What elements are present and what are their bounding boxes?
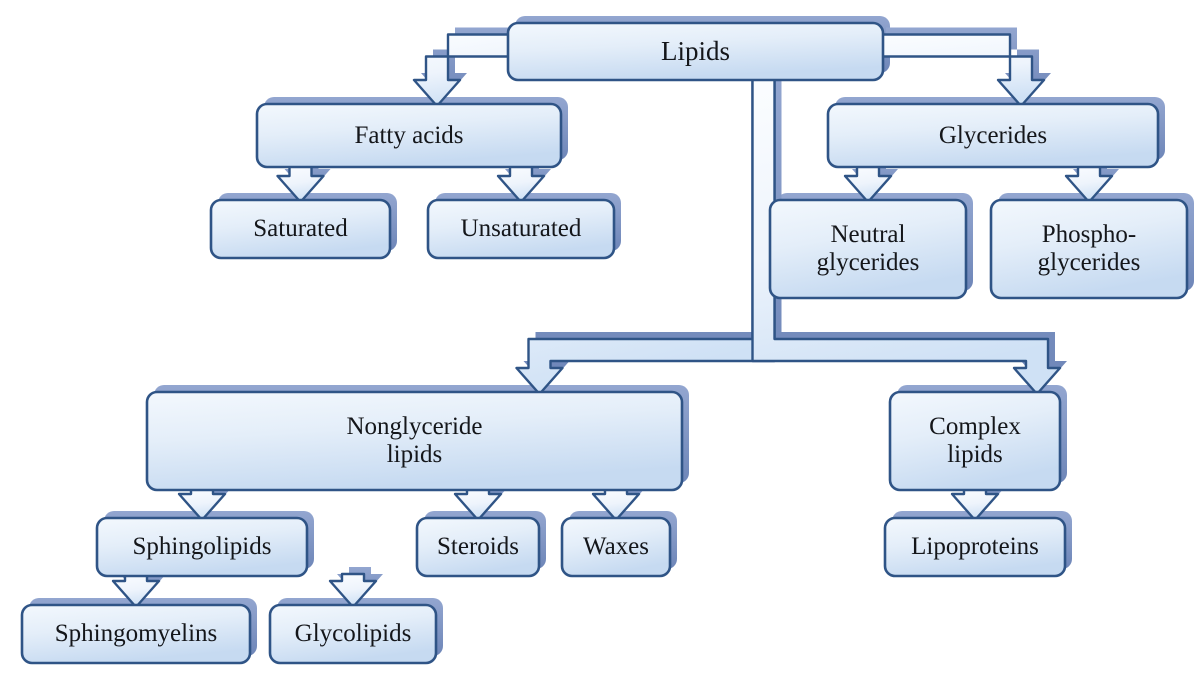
node-outline-steroids <box>417 518 539 576</box>
node-box-glycolipids[interactable] <box>270 605 436 663</box>
node-box-sphingolipids[interactable] <box>97 518 307 576</box>
diagram-svg <box>0 0 1197 692</box>
node-outline-glycolipids <box>270 605 436 663</box>
node-box-sphingomyelins[interactable] <box>22 605 250 663</box>
node-box-neutral_gly[interactable] <box>770 200 966 298</box>
node-box-steroids[interactable] <box>417 518 539 576</box>
node-outline-sphingolipids <box>97 518 307 576</box>
connector-lipids-to-glycerides <box>879 35 1044 107</box>
node-outline-unsaturated <box>428 200 614 258</box>
node-box-nonglyceride[interactable] <box>147 392 682 490</box>
node-outline-glycerides <box>828 104 1158 167</box>
node-outline-lipoproteins <box>885 518 1065 576</box>
node-outline-complex_lipids <box>890 392 1060 490</box>
node-outline-neutral_gly <box>770 200 966 298</box>
node-box-complex_lipids[interactable] <box>890 392 1060 490</box>
node-outline-fatty_acids <box>257 104 561 167</box>
node-outline-nonglyceride <box>147 392 682 490</box>
node-box-glycerides[interactable] <box>828 104 1158 167</box>
connector-lipids-to-fatty_acids <box>414 35 512 107</box>
node-box-phospho_gly[interactable] <box>991 200 1187 298</box>
node-outline-phospho_gly <box>991 200 1187 298</box>
node-outline-waxes <box>562 518 670 576</box>
node-outline-sphingomyelins <box>22 605 250 663</box>
node-box-waxes[interactable] <box>562 518 670 576</box>
node-outline-lipids <box>508 23 883 80</box>
node-box-fatty_acids[interactable] <box>257 104 561 167</box>
diagram-canvas: LipidsFatty acidsGlyceridesSaturatedUnsa… <box>0 0 1197 692</box>
node-outline-saturated <box>211 200 390 258</box>
node-box-lipids[interactable] <box>508 23 883 80</box>
node-box-unsaturated[interactable] <box>428 200 614 258</box>
node-box-lipoproteins[interactable] <box>885 518 1065 576</box>
node-box-saturated[interactable] <box>211 200 390 258</box>
